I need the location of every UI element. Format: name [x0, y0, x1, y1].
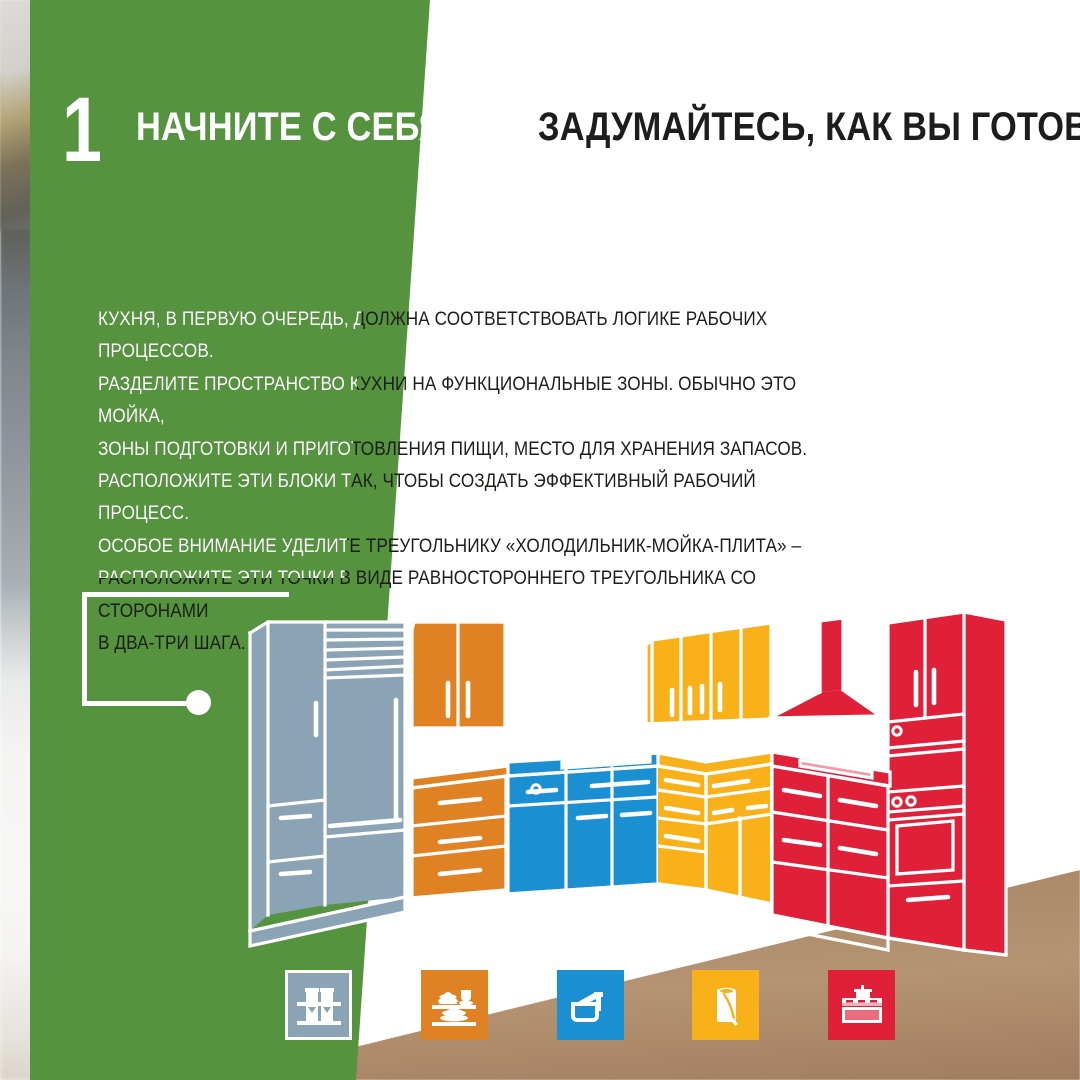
kitchen-unit-upper-yellow	[646, 623, 771, 724]
kitchen-unit-upper-orange	[412, 622, 505, 728]
kitchen-unit-sink-blue	[508, 713, 660, 906]
zone-icon-row	[285, 965, 895, 1045]
kitchen-unit-corner-yellow	[658, 752, 772, 915]
cutting-board-knife-icon[interactable]	[692, 970, 759, 1040]
dishes-stack-icon[interactable]	[421, 970, 488, 1040]
kitchen-illustration: .st{fill:#8ba4b5;} .or{fill:#e08123;} .b…	[0, 0, 1080, 1080]
slide-canvas: 1 НАЧНИТЕ С СЕБЯ ЗАДУМАЙТЕСЬ, КАК ВЫ ГОТ…	[0, 0, 1080, 1080]
storage-jars-icon[interactable]	[285, 970, 352, 1040]
kitchen-unit-oven-tower-red	[888, 612, 1006, 955]
sink-faucet-icon[interactable]	[557, 970, 624, 1040]
stove-oven-icon[interactable]	[828, 970, 895, 1040]
kitchen-range-hood	[770, 618, 880, 725]
kitchen-unit-storage-tall	[250, 622, 405, 946]
kitchen-unit-base-orange	[412, 766, 508, 908]
kitchen-unit-base-red	[772, 752, 890, 950]
